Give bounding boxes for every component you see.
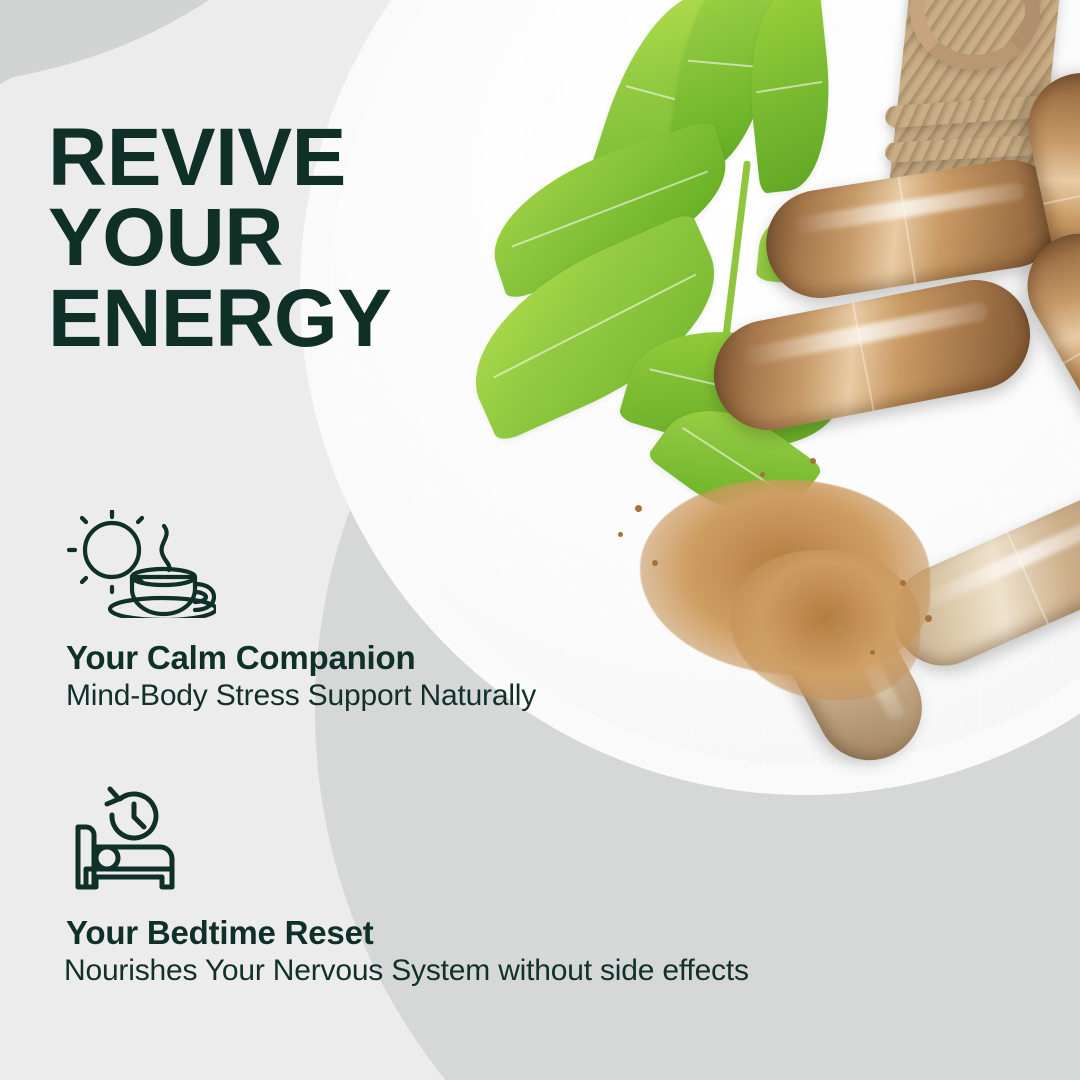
powder-speck: [810, 458, 816, 464]
bed-reset-clock-icon: [66, 785, 1000, 898]
herbal-capsule: [704, 270, 1039, 439]
product-image: [430, 0, 1080, 860]
powder-speck: [760, 472, 765, 477]
feature-title: Your Bedtime Reset: [66, 914, 1000, 952]
sun-coffee-cup-icon: [66, 510, 1000, 623]
feature-item: Your Bedtime Reset Nourishes Your Nervou…: [0, 785, 1000, 988]
feature-subtitle: Nourishes Your Nervous System without si…: [64, 954, 1000, 988]
feature-item: Your Calm Companion Mind-Body Stress Sup…: [0, 510, 1000, 713]
page-title: REVIVE YOUR ENERGY: [48, 118, 391, 359]
feature-subtitle: Mind-Body Stress Support Naturally: [66, 679, 1000, 713]
promo-poster: REVIVE YOUR ENERGY: [0, 0, 1080, 1080]
feature-title: Your Calm Companion: [66, 639, 1000, 677]
